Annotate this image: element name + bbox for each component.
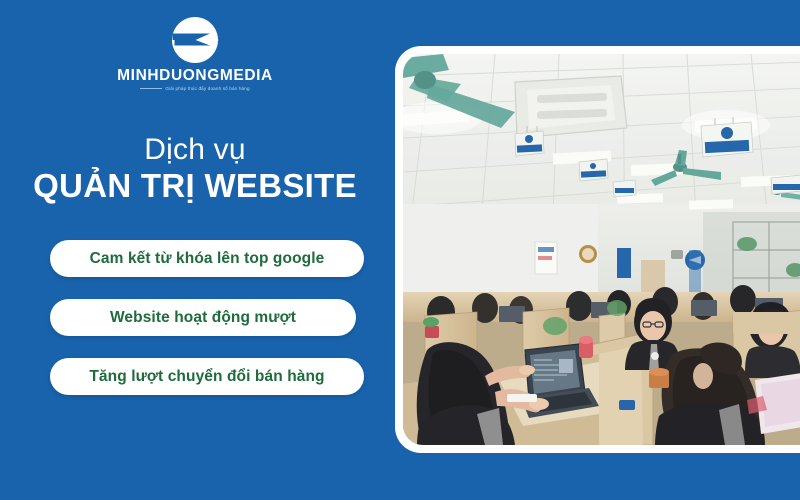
logo-tagline: Giải pháp thúc đẩy doanh số bán hàng: [165, 87, 249, 92]
office-photo-illustration: [403, 54, 800, 445]
benefit-pill-list: Cam kết từ khóa lên top google Website h…: [50, 240, 380, 417]
headline-subtitle: Dịch vụ: [0, 134, 390, 166]
left-content-column: MINHDUONGMEDIA Giải pháp thúc đẩy doanh …: [0, 0, 390, 500]
headline-title: QUẢN TRỊ WEBSITE: [0, 168, 390, 205]
logo-wordmark: MINHDUONGMEDIA: [0, 68, 390, 84]
benefit-pill-3[interactable]: Tăng lượt chuyển đổi bán hàng: [50, 358, 364, 395]
office-photo: [403, 54, 800, 445]
brand-logo[interactable]: MINHDUONGMEDIA Giải pháp thúc đẩy doanh …: [0, 14, 390, 91]
logo-tagline-row: Giải pháp thúc đẩy doanh số bán hàng: [0, 87, 390, 92]
benefit-pill-2-label: Website hoạt động mượt: [110, 309, 296, 327]
tagline-rule-icon: [140, 88, 162, 89]
benefit-pill-1-label: Cam kết từ khóa lên top google: [90, 250, 325, 268]
headline-block: Dịch vụ QUẢN TRỊ WEBSITE: [0, 134, 390, 205]
minhduongmedia-logo-mark: [169, 14, 221, 66]
benefit-pill-3-label: Tăng lượt chuyển đổi bán hàng: [89, 368, 324, 386]
benefit-pill-2[interactable]: Website hoạt động mượt: [50, 299, 356, 336]
photo-frame: [395, 46, 800, 453]
promo-banner: MINHDUONGMEDIA Giải pháp thúc đẩy doanh …: [0, 0, 800, 500]
benefit-pill-1[interactable]: Cam kết từ khóa lên top google: [50, 240, 364, 277]
